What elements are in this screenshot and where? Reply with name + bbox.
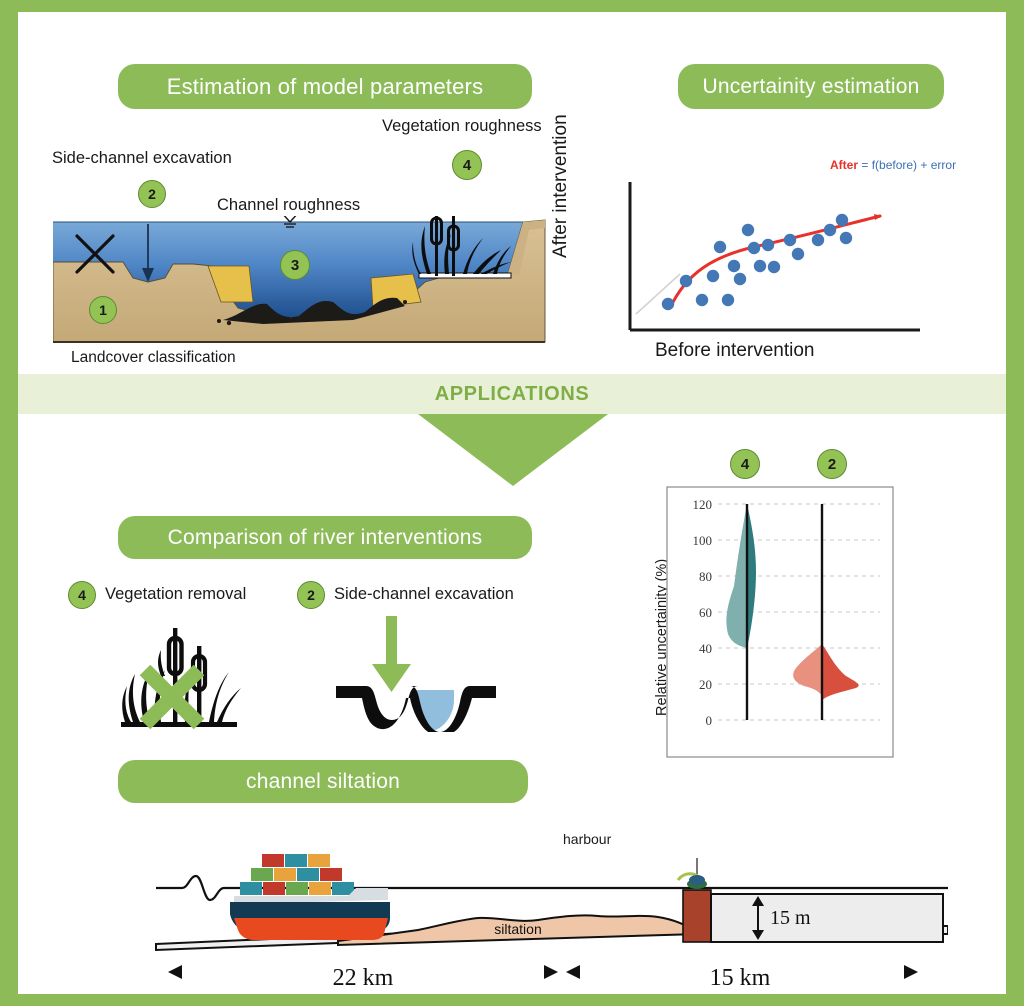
title-siltation-label: channel siltation [246, 770, 400, 794]
badge-landcover-1: 1 [89, 296, 117, 324]
badge-side-channel-2: 2 [138, 180, 166, 208]
label-landcover-classification: Landcover classification [71, 349, 236, 367]
scatter-ylabel: After intervention [550, 114, 572, 258]
title-comparison-label: Comparison of river interventions [168, 526, 483, 550]
scatter-plot [608, 178, 948, 348]
scatter-annotation-red: After [830, 158, 858, 172]
badge-vegetation-roughness-4: 4 [452, 150, 482, 180]
depth-text: 15 m [770, 907, 811, 929]
excavation-arrow-icon [372, 616, 411, 692]
badge-2-label: 2 [148, 186, 156, 202]
title-estimation-label: Estimation of model parameters [167, 74, 484, 100]
container-ship-icon [230, 854, 390, 940]
distance-left-text: 22 km [333, 965, 394, 991]
svg-text:80: 80 [699, 569, 712, 584]
svg-text:40: 40 [699, 641, 712, 656]
side-channel-excavation-icon [336, 614, 496, 732]
label-side-channel-excavation-2: Side-channel excavation [334, 585, 514, 604]
scatter-annotation-blue: = f(before) + error [861, 158, 956, 172]
label-vegetation-roughness: Vegetation roughness [382, 117, 542, 136]
violin-badge-4-label: 4 [741, 456, 749, 473]
title-estimation-of-model-parameters: Estimation of model parameters [118, 64, 532, 109]
violin-badge-2-label: 2 [828, 456, 836, 473]
harbour-basin [711, 894, 943, 942]
distance-markers-row [168, 965, 918, 979]
applications-band: APPLICATIONS [18, 374, 1006, 414]
harbour-quay [683, 890, 711, 942]
vegetation-removal-icon [113, 624, 243, 732]
violin-badge-group-4: 4 [730, 449, 760, 479]
applications-label: APPLICATIONS [435, 383, 590, 406]
title-uncertainty-label: Uncertainity estimation [702, 75, 919, 99]
label-channel-roughness: Channel roughness [217, 196, 360, 215]
badge-channel-roughness-3: 3 [280, 250, 310, 280]
violin-plot: 120 100 80 60 40 20 0 [666, 486, 894, 758]
siltation-text: siltation [494, 921, 541, 937]
label-vegetation-removal: Vegetation removal [105, 585, 246, 604]
channel-siltation-diagram: siltation 15 m [138, 844, 948, 999]
title-channel-siltation: channel siltation [118, 760, 528, 803]
badge-1-label: 1 [99, 302, 107, 318]
badge-4-label: 4 [463, 157, 471, 174]
badge-3-label: 3 [291, 257, 299, 274]
badge-comp-2-label: 2 [307, 587, 315, 603]
removal-x-icon [145, 670, 199, 724]
violin-badge-group-2: 2 [817, 449, 847, 479]
applications-down-arrow-icon [18, 414, 1006, 486]
scatter-annotation: After = f(before) + error [830, 158, 956, 172]
scatter-xlabel: Before intervention [655, 340, 815, 362]
svg-text:0: 0 [706, 713, 713, 728]
distance-right-text: 15 km [710, 965, 771, 991]
svg-text:100: 100 [693, 533, 713, 548]
svg-text:60: 60 [699, 605, 712, 620]
title-comparison-of-river-interventions: Comparison of river interventions [118, 516, 532, 559]
label-side-channel-excavation: Side-channel excavation [52, 149, 232, 168]
harbour-marker-icon [678, 858, 707, 889]
title-uncertainty-estimation: Uncertainity estimation [678, 64, 944, 109]
scatter-points [662, 214, 852, 310]
svg-text:20: 20 [699, 677, 712, 692]
poster-canvas: Estimation of model parameters Uncertain… [18, 12, 1006, 994]
badge-vegetation-removal-4: 4 [68, 581, 96, 609]
river-cross-section-diagram [53, 216, 563, 346]
svg-text:120: 120 [693, 497, 713, 512]
badge-comp-4-label: 4 [78, 587, 86, 603]
badge-side-channel-excavation-2: 2 [297, 581, 325, 609]
